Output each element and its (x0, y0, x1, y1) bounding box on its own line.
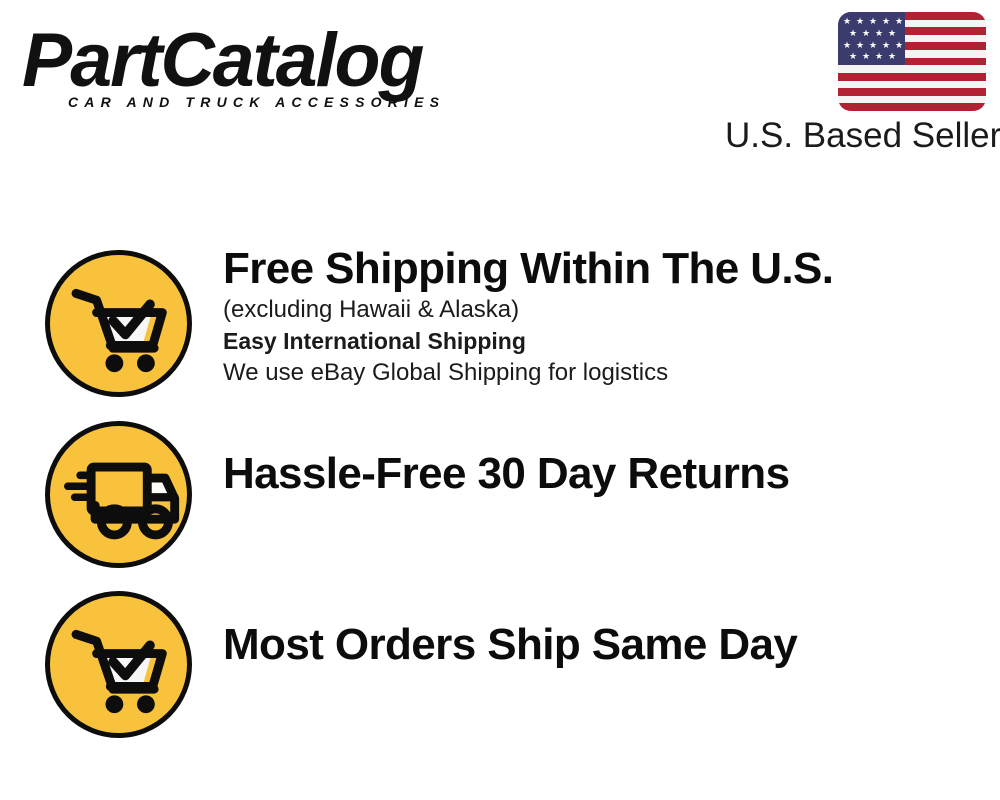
benefit-text: Hassle-Free 30 Day Returns (223, 449, 980, 499)
benefit-subtext: (excluding Hawaii & Alaska) (223, 294, 980, 326)
benefit-row: Hassle-Free 30 Day Returns (0, 416, 1000, 574)
brand-logo[interactable]: PartCatalog CAR AND TRUCK ACCESSORIES (22, 22, 492, 114)
shopping-cart-check-icon (45, 250, 192, 397)
flag-stripe (838, 96, 986, 104)
benefit-text: Free Shipping Within The U.S. (excluding… (223, 244, 980, 389)
benefit-heading: Most Orders Ship Same Day (223, 620, 980, 670)
benefit-row: Free Shipping Within The U.S. (excluding… (0, 244, 1000, 404)
flag-canton: ★ ★ ★ ★ ★ ★ ★ ★ ★ ★ ★ ★ ★ ★ ★ ★ ★ ★ (838, 12, 905, 65)
flag-stripe (838, 88, 986, 96)
benefit-heading: Hassle-Free 30 Day Returns (223, 449, 980, 499)
us-based-seller-label: U.S. Based Seller (725, 115, 993, 157)
benefit-row: Most Orders Ship Same Day (0, 587, 1000, 745)
delivery-truck-icon (45, 421, 192, 568)
shopping-cart-check-icon (45, 591, 192, 738)
flag-stripe (838, 65, 986, 73)
flag-stripe (838, 81, 986, 89)
benefit-text: Most Orders Ship Same Day (223, 620, 980, 670)
brand-wordmark: PartCatalog (22, 22, 487, 100)
benefit-subtext: Easy International Shipping (223, 326, 980, 357)
page-header: PartCatalog CAR AND TRUCK ACCESSORIES ★ … (0, 0, 1000, 175)
benefit-subtext: We use eBay Global Shipping for logistic… (223, 357, 980, 389)
flag-stripe (838, 73, 986, 81)
brand-tagline: CAR AND TRUCK ACCESSORIES (68, 94, 445, 110)
flag-stripe (838, 103, 986, 111)
us-flag-icon: ★ ★ ★ ★ ★ ★ ★ ★ ★ ★ ★ ★ ★ ★ ★ ★ ★ ★ (838, 12, 986, 111)
benefit-heading: Free Shipping Within The U.S. (223, 244, 980, 294)
